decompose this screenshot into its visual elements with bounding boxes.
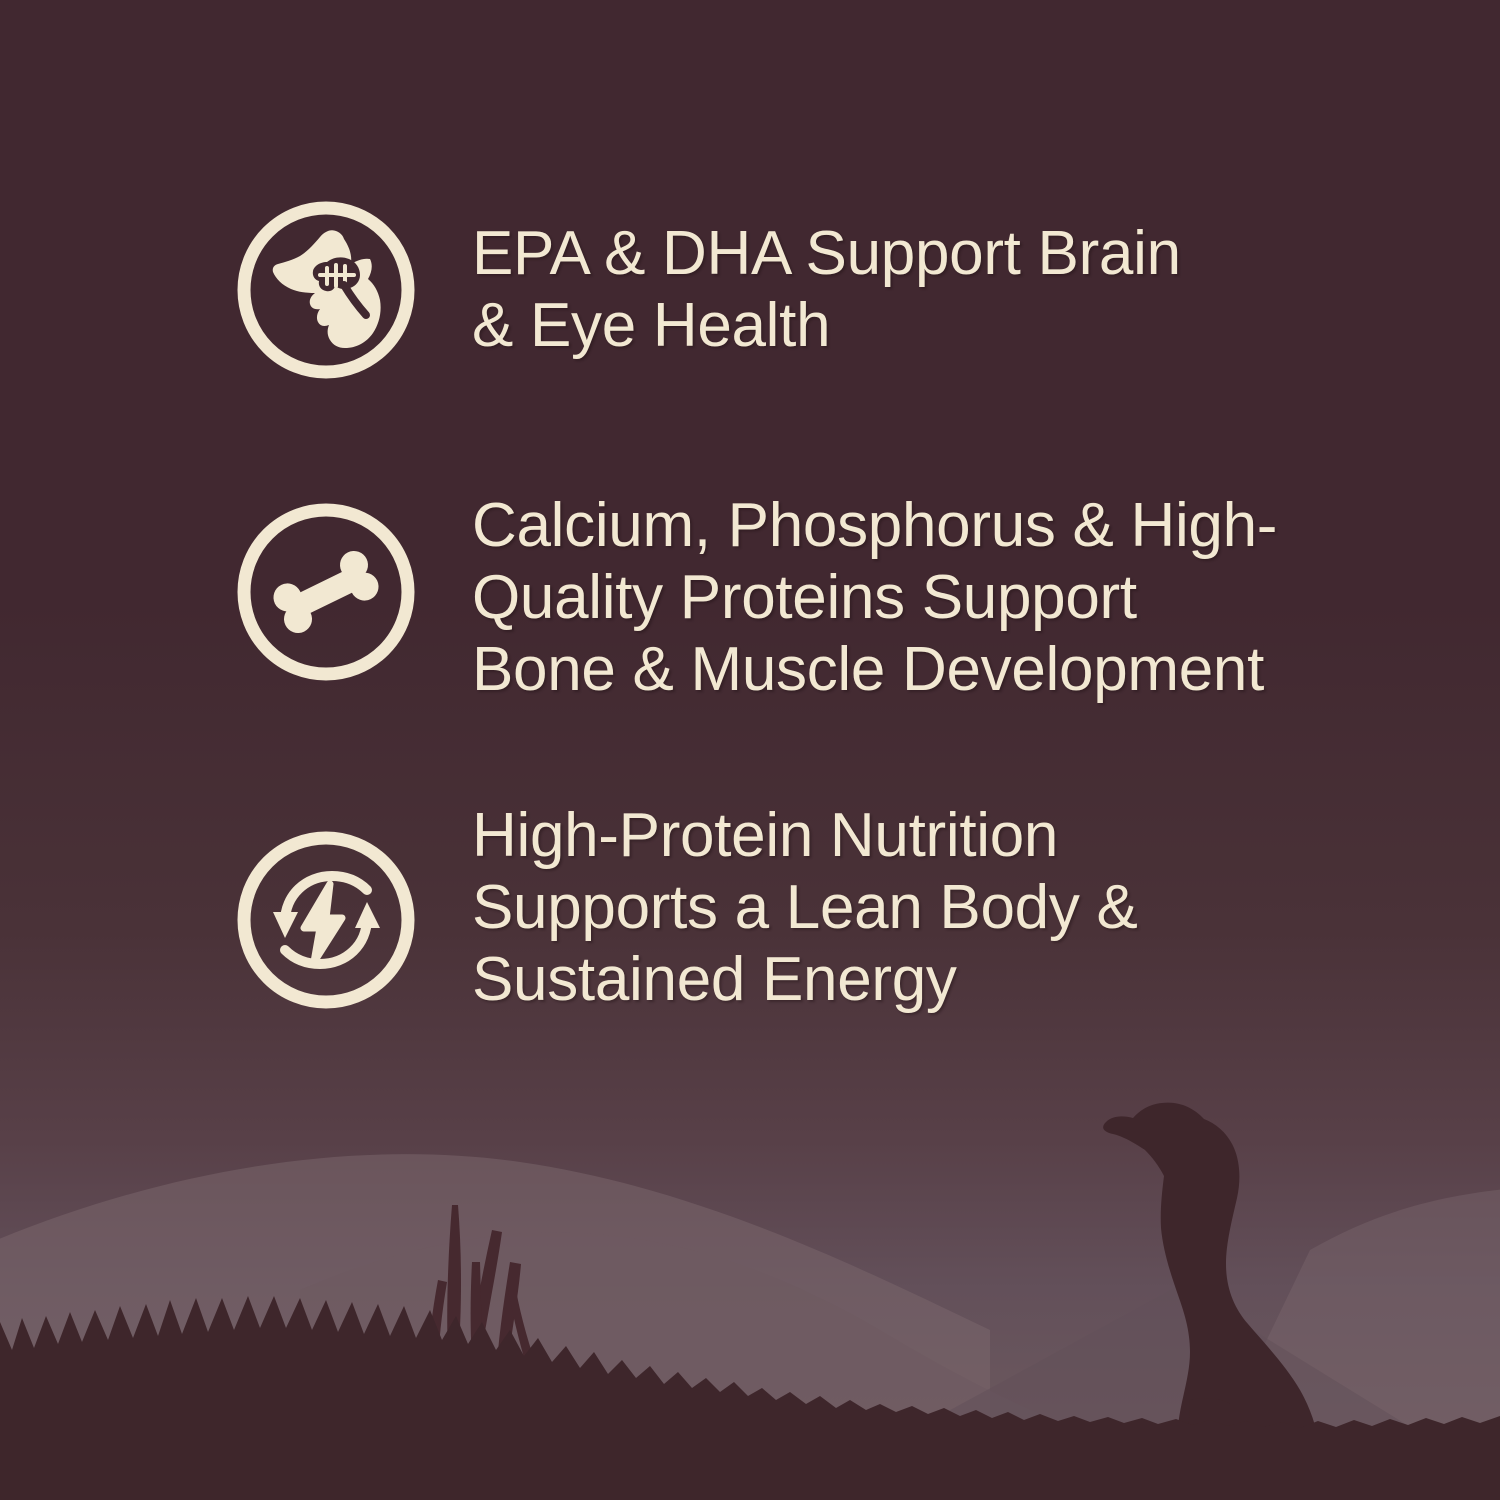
feature-line: Supports a Lean Body & — [472, 872, 1138, 944]
dog-head-brain-icon — [232, 196, 420, 384]
feature-item-epa-dha: EPA & DHA Support Brain & Eye Health — [232, 196, 1181, 384]
feature-text-epa-dha: EPA & DHA Support Brain & Eye Health — [472, 218, 1181, 362]
feature-line: EPA & DHA Support Brain — [472, 218, 1181, 290]
feature-line: & Eye Health — [472, 290, 1181, 362]
feature-item-high-protein: High-Protein Nutrition Supports a Lean B… — [232, 826, 1138, 1016]
feature-text-calcium-phosphorus: Calcium, Phosphorus & High- Quality Prot… — [472, 490, 1277, 706]
feature-item-calcium-phosphorus: Calcium, Phosphorus & High- Quality Prot… — [232, 498, 1277, 706]
feature-line: High-Protein Nutrition — [472, 800, 1138, 872]
feature-line: Calcium, Phosphorus & High- — [472, 490, 1277, 562]
bone-icon — [232, 498, 420, 686]
energy-cycle-bolt-icon — [232, 826, 420, 1014]
feature-line: Sustained Energy — [472, 944, 1138, 1016]
promo-banner: EPA & DHA Support Brain & Eye Health — [0, 0, 1500, 1500]
feature-line: Bone & Muscle Development — [472, 634, 1277, 706]
feature-text-high-protein: High-Protein Nutrition Supports a Lean B… — [472, 800, 1138, 1016]
feature-line: Quality Proteins Support — [472, 562, 1277, 634]
